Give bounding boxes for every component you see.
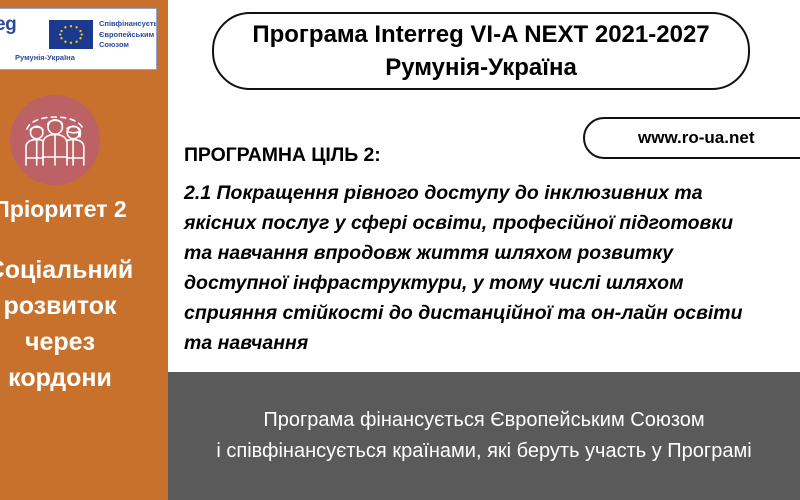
funding-disclaimer-footer: Програма фінансується Європейським Союзо… (168, 372, 800, 500)
sidebar-theme-line: розвиток (0, 288, 150, 324)
sidebar-theme-line: кордони (0, 360, 150, 396)
programme-objective-heading: ПРОГРАМНА ЦІЛЬ 2: (184, 144, 381, 167)
funding-disclaimer-line-1: Програма фінансується Європейським Союзо… (263, 405, 704, 436)
programme-title-line-2: Румунія-Україна (385, 51, 577, 84)
presentation-slide: rreg T Румунія-Україна (0, 0, 800, 500)
sidebar-theme-label: Соціальний розвиток через кордони (0, 252, 150, 396)
sidebar-theme-line: Соціальний (0, 252, 150, 288)
eu-flag-icon (49, 20, 93, 49)
objective-body-line: та навчання впродовж життя шляхом розвит… (184, 238, 800, 268)
left-sidebar-panel: rreg T Румунія-Україна (0, 0, 168, 500)
sidebar-theme-line: через (0, 324, 150, 360)
eu-cofunding-text: Співфінансується Європейським Союзом (99, 19, 157, 51)
programme-title-box: Програма Interreg VI-A NEXT 2021-2027 Ру… (212, 12, 750, 90)
objective-body-line: сприяння стійкості до дистанційної та он… (184, 298, 800, 328)
objective-body-line: та навчання (184, 328, 800, 358)
sidebar-priority-label: Пріоритет 2 (0, 196, 150, 223)
objective-body-line: якісних послуг у сфері освіти, професійн… (184, 208, 800, 238)
programme-objective-body: 2.1 Покращення рівного доступу до інклюз… (184, 178, 800, 358)
objective-body-line: 2.1 Покращення рівного доступу до інклюз… (184, 178, 800, 208)
interreg-logo-box: rreg T Румунія-Україна (0, 8, 157, 70)
logo-country-pair: Румунія-Україна (15, 53, 75, 62)
three-people-icon (10, 95, 100, 185)
funding-disclaimer-line-2: і співфінансується країнами, які беруть … (216, 436, 751, 467)
objective-body-line: доступної інфраструктури, у тому числі ш… (184, 268, 800, 298)
website-url-box[interactable]: www.ro-ua.net (583, 117, 800, 159)
programme-title-line-1: Програма Interreg VI-A NEXT 2021-2027 (252, 18, 709, 51)
website-url-text[interactable]: www.ro-ua.net (585, 128, 755, 148)
